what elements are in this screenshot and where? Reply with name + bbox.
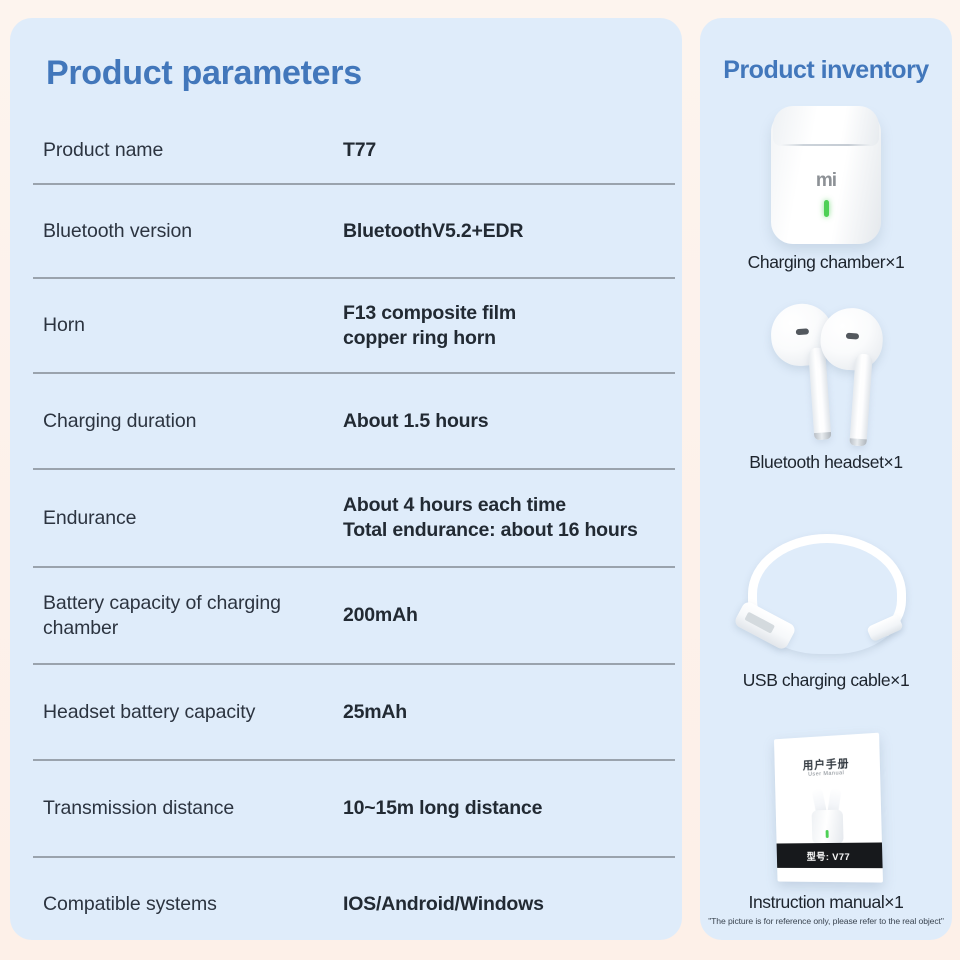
inventory-caption: Bluetooth headset×1	[700, 452, 952, 473]
manual-cover: 用户手册 User Manual 型号: V77	[774, 733, 883, 883]
spec-value: 25mAh	[343, 700, 665, 725]
earbud-sensor	[796, 328, 809, 335]
disclaimer-text: "The picture is for reference only, plea…	[700, 916, 952, 926]
spec-value: About 1.5 hours	[343, 409, 665, 434]
inventory-caption: Charging chamber×1	[700, 252, 952, 273]
spec-value: 10~15m long distance	[343, 796, 665, 821]
inventory-item-instruction-manual: 用户手册 User Manual 型号: V77 Instruction man…	[700, 730, 952, 913]
page-title: Product parameters	[46, 54, 362, 93]
table-row: Endurance About 4 hours each time Total …	[33, 470, 675, 568]
spec-label: Product name	[43, 138, 343, 163]
spec-value: About 4 hours each time Total endurance:…	[343, 493, 665, 543]
table-row: Horn F13 composite film copper ring horn	[33, 279, 675, 374]
spec-label: Compatible systems	[43, 892, 343, 917]
case-lid	[773, 106, 879, 146]
table-row: Battery capacity of charging chamber 200…	[33, 568, 675, 665]
instruction-manual-icon: 用户手册 User Manual 型号: V77	[761, 730, 891, 888]
spec-value: F13 composite film copper ring horn	[343, 301, 665, 351]
spec-label: Headset battery capacity	[43, 700, 343, 725]
specs-table: Product name T77 Bluetooth version Bluet…	[33, 118, 675, 950]
usb-cable-icon	[722, 516, 930, 666]
spec-label: Transmission distance	[43, 796, 343, 821]
inventory-item-charging-chamber: mi Charging chamber×1	[700, 96, 952, 273]
earbud-tip	[814, 432, 831, 440]
spec-value: BluetoothV5.2+EDR	[343, 219, 665, 244]
table-row: Headset battery capacity 25mAh	[33, 665, 675, 761]
spec-label: Charging duration	[43, 409, 343, 434]
inventory-item-usb-cable: USB charging cable×1	[700, 516, 952, 691]
led-indicator-icon	[824, 200, 829, 217]
mi-logo-icon: mi	[761, 170, 891, 192]
table-row: Bluetooth version BluetoothV5.2+EDR	[33, 185, 675, 279]
spec-label: Horn	[43, 313, 343, 338]
earbud-sensor	[846, 333, 859, 340]
earbuds-icon	[751, 306, 901, 448]
table-row: Product name T77	[33, 118, 675, 185]
spec-label: Endurance	[43, 506, 343, 531]
spec-value: IOS/Android/Windows	[343, 892, 665, 917]
spec-label: Bluetooth version	[43, 219, 343, 244]
inventory-caption: Instruction manual×1	[700, 892, 952, 913]
case-seam-line	[781, 144, 871, 146]
product-detail-page: Product parameters Product name T77 Blue…	[0, 0, 960, 960]
inventory-caption: USB charging cable×1	[700, 670, 952, 691]
spec-value: 200mAh	[343, 603, 665, 628]
table-row: Transmission distance 10~15m long distan…	[33, 761, 675, 858]
inventory-title: Product inventory	[700, 56, 952, 85]
manual-cover-photo	[803, 785, 851, 844]
spec-label: Battery capacity of charging chamber	[43, 591, 343, 641]
product-inventory-panel: Product inventory mi Charging chamber×1	[700, 18, 952, 940]
inventory-item-bluetooth-headset: Bluetooth headset×1	[700, 306, 952, 473]
manual-photo-case	[812, 810, 844, 845]
table-row: Charging duration About 1.5 hours	[33, 374, 675, 470]
charging-case-icon: mi	[761, 96, 891, 248]
spec-value: T77	[343, 138, 665, 163]
earbud-tip	[849, 438, 866, 446]
product-parameters-panel: Product parameters Product name T77 Blue…	[10, 18, 682, 940]
table-row: Compatible systems IOS/Android/Windows	[33, 858, 675, 950]
manual-model-band: 型号: V77	[777, 842, 883, 868]
manual-model-text: 型号: V77	[807, 848, 851, 862]
